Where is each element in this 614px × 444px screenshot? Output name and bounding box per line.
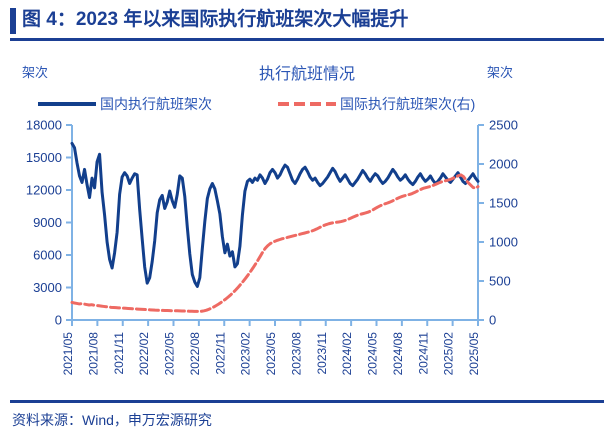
x-axis-tick-label: 2022/02 bbox=[137, 332, 151, 376]
series-line-international bbox=[72, 175, 478, 312]
x-axis-tick-label: 2023/11 bbox=[315, 332, 329, 375]
right-axis-tick-label: 1000 bbox=[489, 235, 518, 250]
right-axis-tick-label: 2500 bbox=[489, 118, 518, 133]
series-line-domestic bbox=[72, 143, 478, 286]
footer-divider bbox=[10, 400, 604, 403]
right-axis-tick-label: 2000 bbox=[489, 157, 518, 172]
header-accent-bar bbox=[10, 8, 16, 34]
x-axis-tick-label: 2022/05 bbox=[163, 332, 177, 376]
x-axis-tick-label: 2025/05 bbox=[467, 332, 481, 376]
chart-plot: 0300060009000120001500018000050010001500… bbox=[0, 40, 614, 398]
x-axis-tick-label: 2024/11 bbox=[416, 332, 430, 375]
right-axis-tick-label: 1500 bbox=[489, 196, 518, 211]
x-axis-tick-label: 2021/11 bbox=[112, 332, 126, 375]
x-axis-tick-label: 2023/05 bbox=[264, 332, 278, 376]
x-axis-tick-label: 2023/08 bbox=[289, 332, 303, 376]
x-axis-tick-label: 2022/08 bbox=[188, 332, 202, 376]
left-axis-tick-label: 12000 bbox=[26, 183, 62, 198]
source-note: 资料来源：Wind，申万宏源研究 bbox=[12, 410, 212, 430]
x-axis-tick-label: 2024/08 bbox=[391, 332, 405, 376]
x-axis-tick-label: 2024/02 bbox=[340, 332, 354, 376]
left-axis-tick-label: 6000 bbox=[33, 248, 62, 263]
x-axis-tick-label: 2022/11 bbox=[213, 332, 227, 375]
x-axis-tick-label: 2025/02 bbox=[442, 332, 456, 376]
page-title: 图 4：2023 年以来国际执行航班架次大幅提升 bbox=[22, 6, 408, 34]
chart-container: 架次 架次 执行航班情况 国内执行航班架次 国际执行航班架次(右) 030006… bbox=[0, 40, 614, 398]
right-axis-tick-label: 500 bbox=[489, 274, 511, 289]
figure-header: 图 4：2023 年以来国际执行航班架次大幅提升 bbox=[10, 6, 604, 36]
x-axis-tick-label: 2021/08 bbox=[86, 332, 100, 376]
left-axis-tick-label: 18000 bbox=[26, 118, 62, 133]
x-axis-tick-label: 2024/05 bbox=[366, 332, 380, 376]
x-axis-tick-label: 2021/05 bbox=[61, 332, 75, 376]
x-axis-tick-label: 2023/02 bbox=[239, 332, 253, 376]
left-axis-tick-label: 15000 bbox=[26, 150, 62, 165]
right-axis-tick-label: 0 bbox=[489, 313, 496, 328]
left-axis-tick-label: 9000 bbox=[33, 215, 62, 230]
left-axis-tick-label: 0 bbox=[55, 313, 62, 328]
left-axis-tick-label: 3000 bbox=[33, 280, 62, 295]
